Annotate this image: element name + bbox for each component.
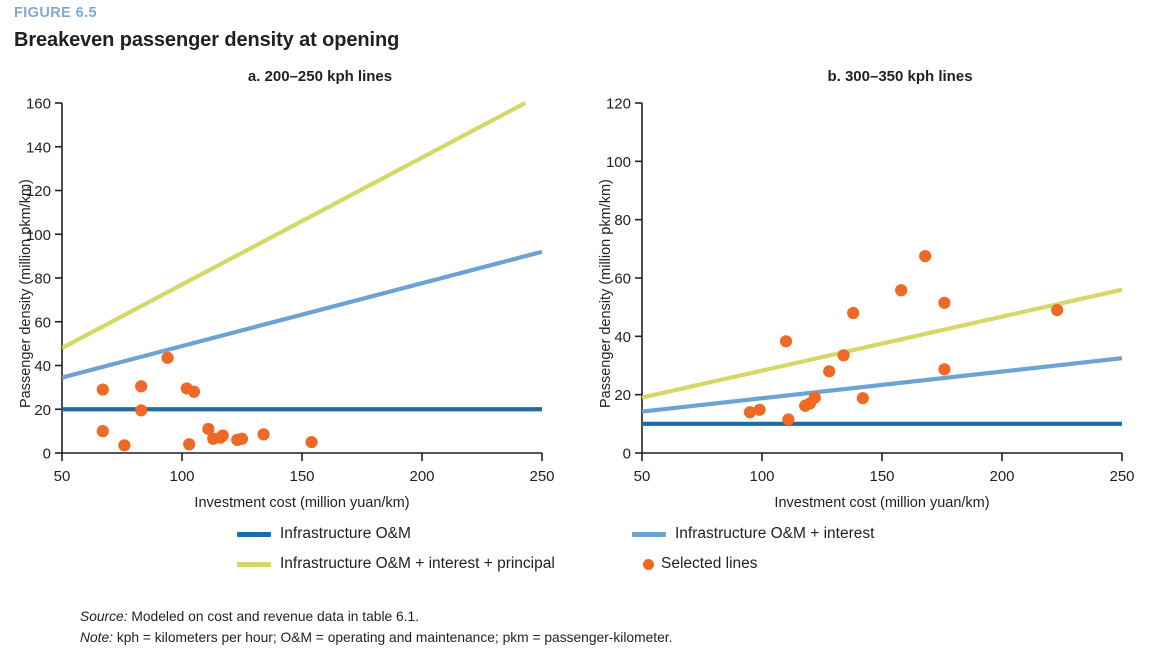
scatter-point <box>782 413 794 425</box>
scatter-point <box>217 429 229 441</box>
y-tick-label: 100 <box>606 154 631 171</box>
scatter-point <box>162 352 174 364</box>
scatter-point <box>919 250 931 262</box>
y-tick-label: 20 <box>614 387 631 404</box>
x-tick-label: 100 <box>169 468 194 485</box>
legend-line-swatch-icon <box>632 532 666 537</box>
panel-b-plot: 02040608010012050100150200250 <box>580 95 1140 515</box>
y-tick-label: 60 <box>34 314 51 331</box>
scatter-point <box>236 433 248 445</box>
scatter-point <box>97 425 109 437</box>
note-prefix: Note: <box>80 630 113 645</box>
chart-legend: Infrastructure O&M Infrastructure O&M + … <box>0 525 1162 595</box>
note-line: Note: kph = kilometers per hour; O&M = o… <box>80 627 1080 648</box>
note-text: kph = kilometers per hour; O&M = operati… <box>113 630 672 645</box>
x-tick-label: 150 <box>289 468 314 485</box>
legend-label: Infrastructure O&M <box>280 525 411 543</box>
y-tick-label: 0 <box>43 446 51 463</box>
panel-b-x-axis-label: Investment cost (million yuan/km) <box>722 495 1042 511</box>
scatter-point <box>306 436 318 448</box>
legend-item-selected-lines: Selected lines <box>632 555 758 573</box>
panel-a-x-axis-label: Investment cost (million yuan/km) <box>142 495 462 511</box>
scatter-point <box>1051 304 1063 316</box>
figure-title: Breakeven passenger density at opening <box>14 29 399 52</box>
x-tick-label: 250 <box>529 468 554 485</box>
y-tick-label: 80 <box>614 212 631 229</box>
series-line <box>642 290 1122 398</box>
y-tick-label: 20 <box>34 402 51 419</box>
y-tick-label: 140 <box>26 139 51 156</box>
scatter-point <box>857 392 869 404</box>
scatter-point <box>135 380 147 392</box>
scatter-point <box>780 335 792 347</box>
x-tick-label: 50 <box>54 468 71 485</box>
source-line: Source: Modeled on cost and revenue data… <box>80 606 1080 627</box>
y-tick-label: 40 <box>34 358 51 375</box>
legend-item-infrastructure-om-interest-principal: Infrastructure O&M + interest + principa… <box>237 555 555 573</box>
scatter-point <box>754 404 766 416</box>
y-tick-label: 60 <box>614 271 631 288</box>
panel-b-title: b. 300–350 kph lines <box>640 68 1160 85</box>
y-tick-label: 120 <box>606 96 631 113</box>
scatter-point <box>135 404 147 416</box>
scatter-point <box>895 284 907 296</box>
panel-a-plot: 02040608010012014016050100150200250 <box>0 95 560 515</box>
x-tick-label: 200 <box>409 468 434 485</box>
y-tick-label: 160 <box>26 96 51 113</box>
scatter-point <box>938 297 950 309</box>
scatter-point <box>938 363 950 375</box>
scatter-point <box>847 307 859 319</box>
legend-item-infrastructure-om: Infrastructure O&M <box>237 525 411 543</box>
scatter-point <box>809 391 821 403</box>
legend-line-swatch-icon <box>237 562 271 567</box>
figure-container: FIGURE 6.5 Breakeven passenger density a… <box>0 0 1162 659</box>
x-tick-label: 50 <box>634 468 651 485</box>
chart-panel-a: 02040608010012014016050100150200250 <box>0 95 560 515</box>
panel-a-title: a. 200–250 kph lines <box>60 68 580 85</box>
x-tick-label: 250 <box>1109 468 1134 485</box>
legend-dot-swatch-icon <box>643 559 654 570</box>
x-tick-label: 100 <box>749 468 774 485</box>
legend-label: Selected lines <box>661 555 758 573</box>
series-line <box>642 358 1122 411</box>
chart-panel-b: 02040608010012050100150200250 <box>580 95 1140 515</box>
legend-label: Infrastructure O&M + interest <box>675 525 874 543</box>
legend-label: Infrastructure O&M + interest + principa… <box>280 555 555 573</box>
legend-item-infrastructure-om-interest: Infrastructure O&M + interest <box>632 525 874 543</box>
scatter-point <box>838 349 850 361</box>
x-tick-label: 150 <box>869 468 894 485</box>
scatter-point <box>97 383 109 395</box>
y-tick-label: 40 <box>614 329 631 346</box>
source-text: Modeled on cost and revenue data in tabl… <box>128 609 419 624</box>
series-line <box>62 103 525 348</box>
scatter-point <box>188 386 200 398</box>
panel-b-y-axis-label: Passenger density (million pkm/km) <box>598 179 614 408</box>
scatter-point <box>258 428 270 440</box>
y-tick-label: 80 <box>34 271 51 288</box>
x-tick-label: 200 <box>989 468 1014 485</box>
figure-number-label: FIGURE 6.5 <box>14 5 97 21</box>
series-line <box>62 252 542 378</box>
legend-line-swatch-icon <box>237 532 271 537</box>
scatter-point <box>183 438 195 450</box>
source-prefix: Source: <box>80 609 128 624</box>
panel-a-y-axis-label: Passenger density (million pkm/km) <box>18 179 34 408</box>
y-tick-label: 0 <box>623 446 631 463</box>
scatter-point <box>823 365 835 377</box>
scatter-point <box>118 439 130 451</box>
figure-notes: Source: Modeled on cost and revenue data… <box>80 606 1080 648</box>
